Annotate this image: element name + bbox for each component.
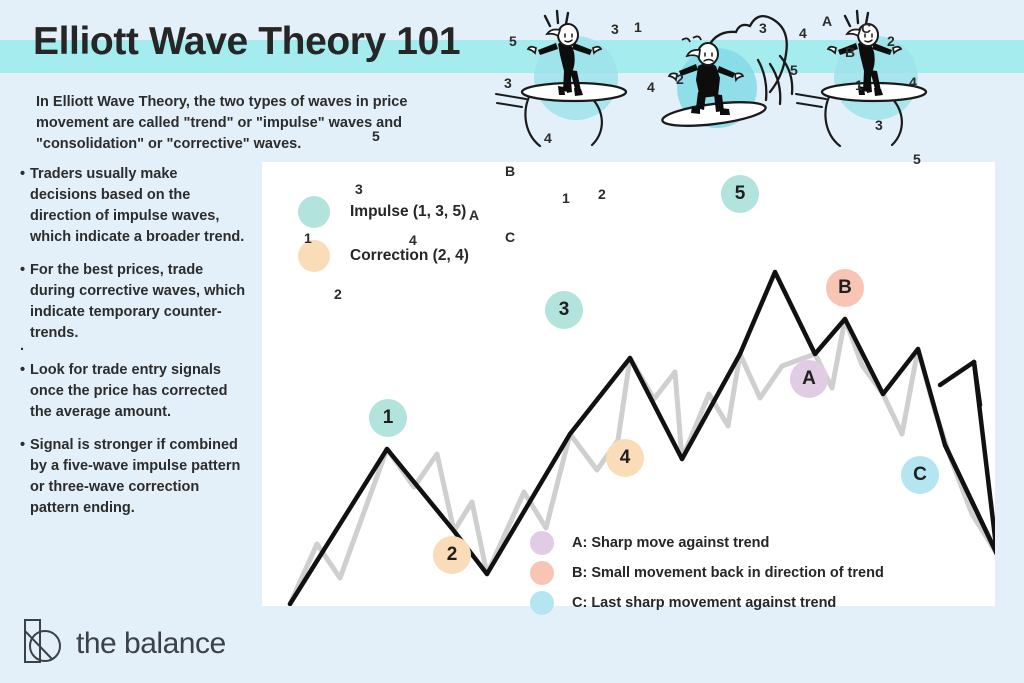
bullet-marker: • <box>20 260 30 344</box>
wave-label: 2 <box>887 33 895 49</box>
wave-label: A <box>469 207 479 223</box>
bullet-text: Traders usually make decisions based on … <box>30 164 246 248</box>
wave-label: 2 <box>598 186 606 202</box>
wave-label: 5 <box>790 62 798 78</box>
list-item: • Traders usually make decisions based o… <box>20 164 246 248</box>
legend-dot-c <box>530 591 554 615</box>
wave-marker-3: 3 <box>545 291 583 329</box>
legend-label: Impulse (1, 3, 5) <box>350 203 466 221</box>
wave-label: B <box>505 163 515 179</box>
chart-panel: Impulse (1, 3, 5) Correction (2, 4) A: S… <box>262 162 995 606</box>
wave-label: 5 <box>372 128 380 144</box>
stray-bullet-mark: · <box>20 348 246 358</box>
bullet-marker: • <box>20 164 30 248</box>
wave-label: 4 <box>909 74 917 90</box>
wave-label: 4 <box>409 232 417 248</box>
legend-dot-correction <box>298 240 330 272</box>
legend-item: Impulse (1, 3, 5) <box>298 190 469 234</box>
legend-dot-b <box>530 561 554 585</box>
wave-label: B <box>845 44 855 60</box>
bullet-marker: • <box>20 360 30 423</box>
legend-dot-a <box>530 531 554 555</box>
list-item: • Look for trade entry signals once the … <box>20 360 246 423</box>
legend-label: A: Sharp move against trend <box>572 535 769 551</box>
surfer-illustrations <box>492 0 1024 160</box>
wave-label: 5 <box>913 151 921 167</box>
wave-label: 1 <box>304 230 312 246</box>
page-title: Elliott Wave Theory 101 <box>33 18 460 67</box>
wave-label: 3 <box>759 20 767 36</box>
legend-item: B: Small movement back in direction of t… <box>530 558 884 588</box>
wave-label: 3 <box>504 75 512 91</box>
wave-label: 5 <box>509 33 517 49</box>
wave-label: 4 <box>544 130 552 146</box>
wave-label: 4 <box>647 79 655 95</box>
bullet-marker: • <box>20 435 30 519</box>
wave-label: 1 <box>562 190 570 206</box>
legend-item: C: Last sharp movement against trend <box>530 588 884 618</box>
bullet-text: Look for trade entry signals once the pr… <box>30 360 246 423</box>
wave-marker-1: 1 <box>369 399 407 437</box>
bullet-text: For the best prices, trade during correc… <box>30 260 246 344</box>
wave-label: 1 <box>634 19 642 35</box>
balance-logo-icon <box>22 618 64 669</box>
intro-paragraph: In Elliott Wave Theory, the two types of… <box>36 92 456 155</box>
list-item: • Signal is stronger if combined by a fi… <box>20 435 246 519</box>
legend-label: Correction (2, 4) <box>350 247 469 265</box>
brand-logo-text: the balance <box>76 627 226 661</box>
wave-label: 4 <box>799 25 807 41</box>
wave-label: C <box>861 20 871 36</box>
wave-label: 1 <box>855 77 863 93</box>
wave-marker-c: C <box>901 456 939 494</box>
wave-label: 3 <box>355 181 363 197</box>
wave-marker-4: 4 <box>606 439 644 477</box>
bullet-text: Signal is stronger if combined by a five… <box>30 435 246 519</box>
surfer-left <box>496 11 626 146</box>
legend-label: C: Last sharp movement against trend <box>572 595 836 611</box>
infographic-root: Elliott Wave Theory 101 In Elliott Wave … <box>0 0 1024 683</box>
brand-logo: the balance <box>22 618 226 669</box>
wave-label: A <box>822 13 832 29</box>
wave-marker-2: 2 <box>433 536 471 574</box>
wave-label: C <box>505 229 515 245</box>
wave-marker-b: B <box>826 269 864 307</box>
wave-label: 3 <box>611 21 619 37</box>
legend-label: B: Small movement back in direction of t… <box>572 565 884 581</box>
wave-label: 3 <box>875 117 883 133</box>
legend-item: A: Sharp move against trend <box>530 528 884 558</box>
legend-item: Correction (2, 4) <box>298 234 469 278</box>
list-item: • For the best prices, trade during corr… <box>20 260 246 344</box>
wave-label: 2 <box>676 71 684 87</box>
wave-label: 2 <box>334 286 342 302</box>
legend-impulse-correction: Impulse (1, 3, 5) Correction (2, 4) <box>298 190 469 278</box>
wave-marker-5: 5 <box>721 175 759 213</box>
wave-marker-a: A <box>790 360 828 398</box>
legend-abc: A: Sharp move against trend B: Small mov… <box>530 528 884 618</box>
legend-dot-impulse <box>298 196 330 228</box>
bullet-list: • Traders usually make decisions based o… <box>20 164 246 531</box>
